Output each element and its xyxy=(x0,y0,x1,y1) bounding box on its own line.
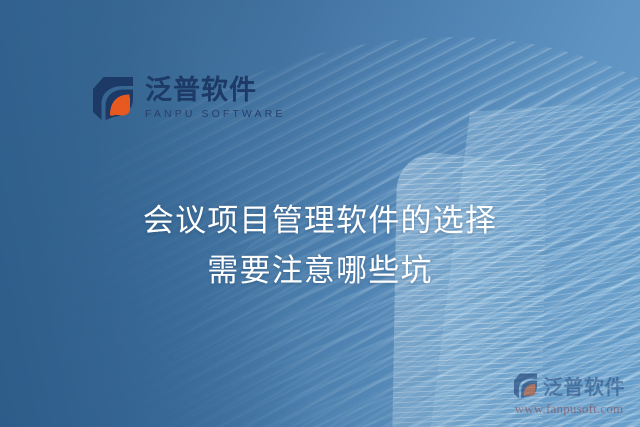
fanpu-sail-hexagon-logo-icon xyxy=(92,76,134,121)
brand-name-cn: 泛普软件 xyxy=(145,77,285,104)
headline: 会议项目管理软件的选择 需要注意哪些坑 xyxy=(0,196,640,296)
banner-canvas: 泛普软件 FANPU SOFTWARE 会议项目管理软件的选择 需要注意哪些坑 … xyxy=(0,0,640,427)
headline-line-1: 会议项目管理软件的选择 xyxy=(0,196,640,246)
brand-wordmark: 泛普软件 FANPU SOFTWARE xyxy=(145,77,285,120)
headline-line-2: 需要注意哪些坑 xyxy=(0,246,640,296)
brand-name-en: FANPU SOFTWARE xyxy=(145,109,285,120)
brand-logo: 泛普软件 FANPU SOFTWARE xyxy=(92,76,285,121)
